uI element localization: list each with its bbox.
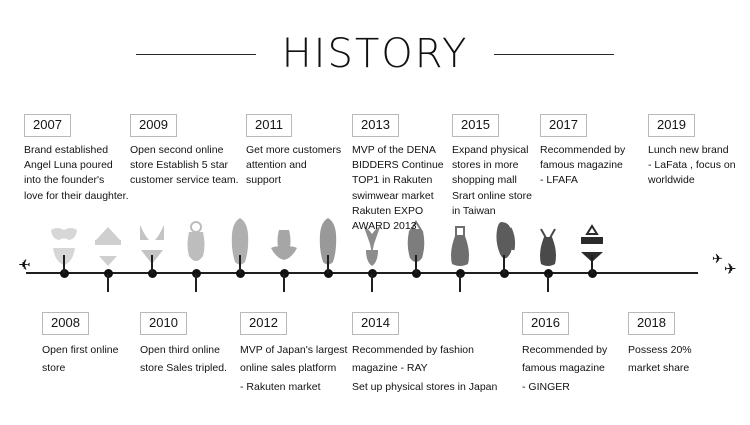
strap-beach-dress-illustration	[536, 226, 560, 268]
page-title: HISTORY	[282, 34, 469, 74]
entry-description-2017: Recommended by famous magazine - LFAFA	[540, 143, 625, 189]
timeline-axis	[26, 272, 698, 274]
year-badge-2008: 2008	[42, 312, 89, 335]
one-piece-swimsuit-illustration	[183, 220, 209, 268]
entry-description-2010: Open third online store Sales tripled.	[140, 341, 227, 378]
timeline-tick	[283, 274, 285, 292]
year-badge-2019: 2019	[648, 114, 695, 137]
bird-icon-right-2: ✈	[724, 262, 737, 277]
entry-description-2012: MVP of Japan's largest online sales plat…	[240, 341, 347, 396]
entry-description-2014: Recommended by fashion magazine - RAY Se…	[352, 341, 497, 396]
triangle-bikini-illustration	[92, 224, 124, 268]
year-badge-2009: 2009	[130, 114, 177, 137]
year-badge-2014: 2014	[352, 312, 399, 335]
title-rule-left	[136, 54, 256, 55]
year-badge-2015: 2015	[452, 114, 499, 137]
timeline-tick	[415, 255, 417, 273]
bird-icon-left: ✈	[18, 258, 31, 273]
year-badge-2013: 2013	[352, 114, 399, 137]
timeline-tick	[591, 255, 593, 273]
timeline-tick	[239, 255, 241, 273]
history-timeline-page: HISTORY	[0, 0, 750, 425]
bird-icon-right-1: ✈	[712, 252, 723, 265]
timeline-tick	[327, 255, 329, 273]
ruffle-swimsuit-illustration	[268, 226, 300, 268]
entry-description-2007: Brand established Angel Luna poured into…	[24, 143, 128, 204]
entry-description-2019: Lunch new brand - LaFata , focus on worl…	[648, 143, 736, 189]
year-badge-2018: 2018	[628, 312, 675, 335]
page-header: HISTORY	[0, 28, 750, 80]
entry-description-2009: Open second online store Establish 5 sta…	[130, 143, 239, 189]
short-beach-dress-illustration	[447, 224, 473, 268]
entry-description-2015: Expand physical stores in more shopping …	[452, 143, 532, 219]
entry-description-2018: Possess 20% market share	[628, 341, 692, 378]
timeline-tick	[63, 255, 65, 273]
entry-description-2013: MVP of the DENA BIDDERS Continue TOP1 in…	[352, 143, 444, 234]
year-badge-2016: 2016	[522, 312, 569, 335]
entry-description-2016: Recommended by famous magazine - GINGER	[522, 341, 607, 396]
year-badge-2012: 2012	[240, 312, 287, 335]
title-rule-right	[494, 54, 614, 55]
timeline-tick	[151, 255, 153, 273]
year-badge-2011: 2011	[246, 114, 292, 137]
timeline-tick	[503, 255, 505, 273]
year-badge-2007: 2007	[24, 114, 71, 137]
entry-description-2008: Open first online store	[42, 341, 118, 378]
timeline-tick	[459, 274, 461, 292]
entry-description-2011: Get more customers attention and support	[246, 143, 341, 189]
timeline-tick	[547, 274, 549, 292]
year-badge-2010: 2010	[140, 312, 187, 335]
year-badge-2017: 2017	[540, 114, 587, 137]
timeline-tick	[107, 274, 109, 292]
timeline-tick	[371, 274, 373, 292]
timeline-tick	[195, 274, 197, 292]
